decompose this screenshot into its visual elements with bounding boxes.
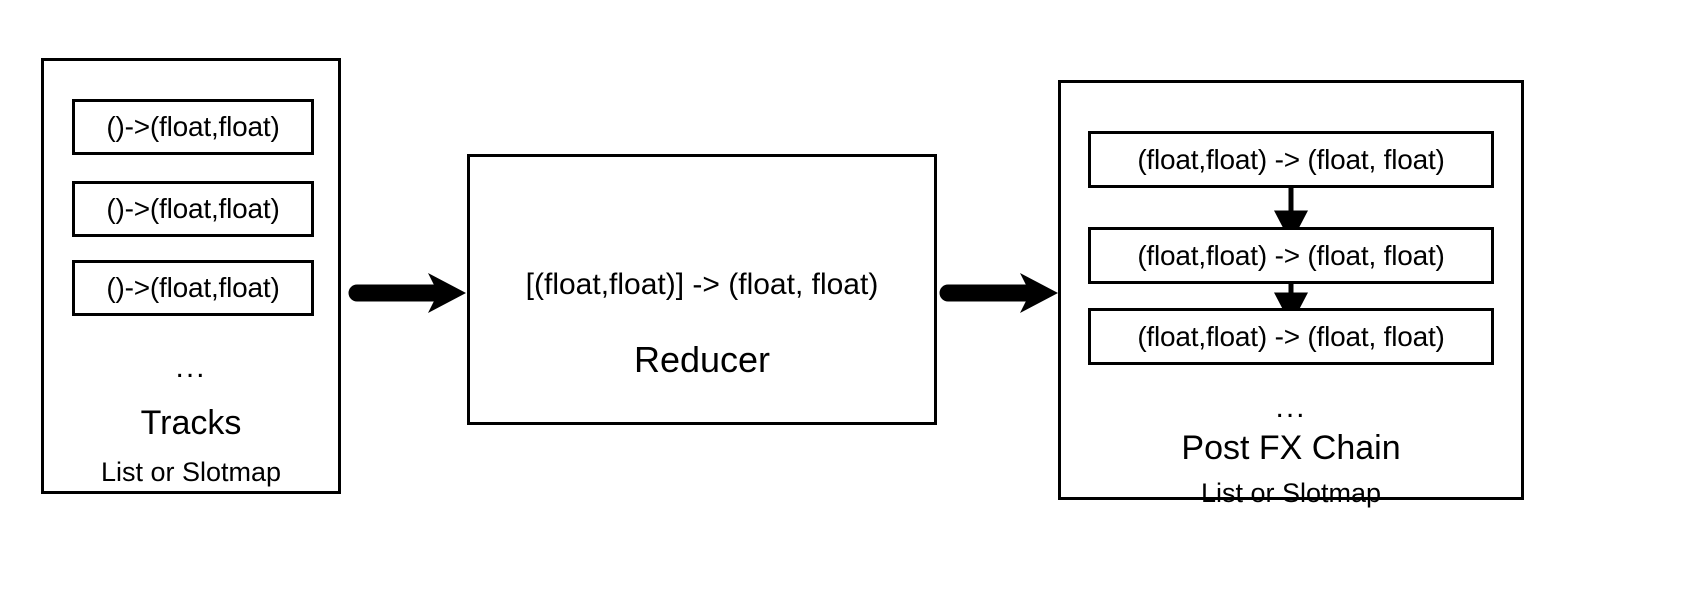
tracks-container: ()->(float,float) ()->(float,float) ()->… bbox=[41, 58, 341, 494]
postfx-title: Post FX Chain bbox=[1061, 431, 1521, 465]
track-item[interactable]: ()->(float,float) bbox=[72, 181, 314, 237]
track-item-label: ()->(float,float) bbox=[106, 113, 279, 141]
fx-item[interactable]: (float,float) -> (float, float) bbox=[1088, 131, 1494, 188]
fx-item-label: (float,float) -> (float, float) bbox=[1137, 146, 1444, 174]
postfx-chain-container: (float,float) -> (float, float) (float,f… bbox=[1058, 80, 1524, 500]
postfx-subtitle: List or Slotmap bbox=[1061, 480, 1521, 507]
fx-item[interactable]: (float,float) -> (float, float) bbox=[1088, 227, 1494, 284]
fx-item[interactable]: (float,float) -> (float, float) bbox=[1088, 308, 1494, 365]
arrow-tracks-to-reducer bbox=[357, 273, 466, 313]
tracks-title: Tracks bbox=[44, 406, 338, 440]
track-item[interactable]: ()->(float,float) bbox=[72, 260, 314, 316]
track-item-label: ()->(float,float) bbox=[106, 274, 279, 302]
reducer-signature: [(float,float)] -> (float, float) bbox=[470, 270, 934, 300]
reducer-container: [(float,float)] -> (float, float) Reduce… bbox=[467, 154, 937, 425]
track-item[interactable]: ()->(float,float) bbox=[72, 99, 314, 155]
diagram-canvas: ()->(float,float) ()->(float,float) ()->… bbox=[0, 0, 1694, 600]
tracks-ellipsis: ... bbox=[44, 353, 338, 383]
fx-item-label: (float,float) -> (float, float) bbox=[1137, 242, 1444, 270]
tracks-subtitle: List or Slotmap bbox=[44, 459, 338, 486]
reducer-title: Reducer bbox=[470, 342, 934, 378]
track-item-label: ()->(float,float) bbox=[106, 195, 279, 223]
postfx-ellipsis: ... bbox=[1061, 393, 1521, 423]
arrow-reducer-to-postfx bbox=[948, 273, 1058, 313]
fx-item-label: (float,float) -> (float, float) bbox=[1137, 323, 1444, 351]
